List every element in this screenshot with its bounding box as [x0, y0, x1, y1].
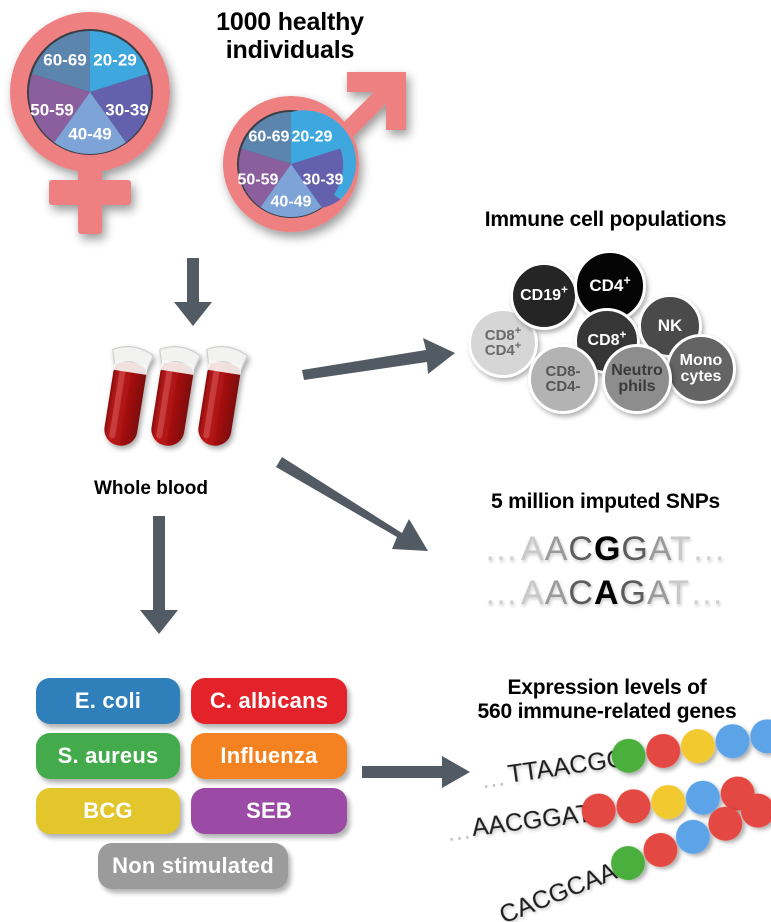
- cell-bubble-monocytes: Monocytes: [666, 334, 736, 404]
- stimulus-label: BCG: [83, 798, 133, 824]
- male-pie-label-60-69: 60-69: [249, 129, 290, 146]
- male-pie-label-50-59: 50-59: [238, 172, 279, 189]
- stimulus-label: SEB: [246, 798, 292, 824]
- snp-sequence-row-1: …AACGGAT…: [484, 530, 729, 569]
- female-symbol: 20-29 30-39 40-49 50-59 60-69: [2, 6, 192, 246]
- whole-blood-caption: Whole blood: [94, 478, 208, 500]
- stimulus-label: Influenza: [220, 743, 317, 769]
- expression-title: Expression levels of 560 immune-related …: [448, 676, 766, 723]
- strand-1-sequence: TTAACGG: [506, 744, 628, 788]
- stimulus-label: Non stimulated: [112, 853, 274, 879]
- cell-label: Monocytes: [680, 353, 723, 386]
- stimuli-panel: E. coli C. albicans S. aureus Influenza …: [36, 678, 346, 888]
- blood-tubes: [100, 340, 280, 460]
- expression-title-line1: Expression levels of: [448, 676, 766, 700]
- cell-label: Neutrophils: [611, 363, 663, 396]
- female-pie-label-20-29: 20-29: [93, 51, 136, 70]
- arrow-cohort-to-blood: [172, 258, 214, 328]
- female-pie-label-40-49: 40-49: [68, 125, 111, 144]
- cell-label: CD8+CD4+: [485, 328, 522, 359]
- strand-3-sequence: CACGCAA: [496, 857, 621, 922]
- stimulus-pill-bcg[interactable]: BCG: [36, 788, 180, 834]
- stimulus-pill-influenza[interactable]: Influenza: [191, 733, 347, 779]
- arrow-blood-to-snps: [280, 455, 450, 560]
- cell-label: CD4+: [589, 277, 630, 295]
- snp-ellipsis-right: …: [692, 530, 729, 568]
- snp-variant-allele: A: [594, 574, 620, 612]
- figure-canvas: 20-29 30-39 40-49 50-59 60-69 1000 healt…: [0, 0, 771, 922]
- snp-ellipsis-left: …: [484, 574, 521, 612]
- female-crossbar: [49, 180, 131, 205]
- stimulus-label: S. aureus: [58, 743, 159, 769]
- immune-cell-bubble-cluster: CD8+CD4+ CD19+ CD4+ CD8+ NK Monocytes Ne…: [462, 246, 762, 416]
- strand-2-ellipsis: …: [445, 816, 473, 847]
- arrow-blood-to-immune-cells: [300, 330, 460, 380]
- cell-bubble-cd19p: CD19+: [510, 262, 578, 330]
- immune-cell-populations-title: Immune cell populations: [448, 208, 763, 232]
- male-symbol: 20-29 30-39 40-49 50-59 60-69: [206, 60, 426, 260]
- male-pie-label-30-39: 30-39: [303, 172, 344, 189]
- stimulus-pill-seb[interactable]: SEB: [191, 788, 347, 834]
- cell-bubble-cd8n-cd4n: CD8-CD4-: [528, 344, 598, 414]
- strand-2-sequence: AACGGAT: [470, 800, 593, 842]
- stimulus-pill-e-coli[interactable]: E. coli: [36, 678, 180, 724]
- cell-bubble-neutrophils: Neutrophils: [602, 344, 672, 414]
- cell-label: NK: [658, 317, 683, 335]
- stimulus-label: C. albicans: [210, 688, 328, 714]
- female-pie-label-50-59: 50-59: [30, 101, 73, 120]
- cell-label: CD8-CD4-: [545, 364, 580, 395]
- male-pie-label-40-49: 40-49: [271, 194, 312, 211]
- page-title-cohort: 1000 healthy individuals: [170, 8, 410, 64]
- snp-ellipsis-right: …: [690, 574, 727, 612]
- female-pie-label-60-69: 60-69: [43, 51, 86, 70]
- snp-sequence-block: …AACGGAT… …AACAGAT…: [462, 524, 762, 624]
- snps-title: 5 million imputed SNPs: [448, 490, 763, 514]
- snp-variant-allele: G: [594, 530, 621, 568]
- male-pie-label-20-29: 20-29: [292, 129, 333, 146]
- strand-1-ellipsis: …: [479, 763, 508, 794]
- snp-ellipsis-left: …: [484, 530, 521, 568]
- female-pie-label-30-39: 30-39: [105, 101, 148, 120]
- stimulus-label: E. coli: [75, 688, 141, 714]
- expression-title-line2: 560 immune-related genes: [448, 700, 766, 724]
- stimulus-pill-c-albicans[interactable]: C. albicans: [191, 678, 347, 724]
- arrow-blood-to-stimuli: [138, 516, 180, 636]
- stimulus-pill-s-aureus[interactable]: S. aureus: [36, 733, 180, 779]
- gene-expression-strands: … TTAACGG … AACGGAT: [452, 730, 770, 920]
- cohort-title-line1: 1000 healthy: [170, 8, 410, 36]
- strand-1-beads: [609, 717, 771, 775]
- cell-label: CD19+: [520, 288, 568, 304]
- stimulus-pill-non-stimulated[interactable]: Non stimulated: [98, 843, 288, 889]
- snp-sequence-row-2: …AACAGAT…: [484, 574, 727, 613]
